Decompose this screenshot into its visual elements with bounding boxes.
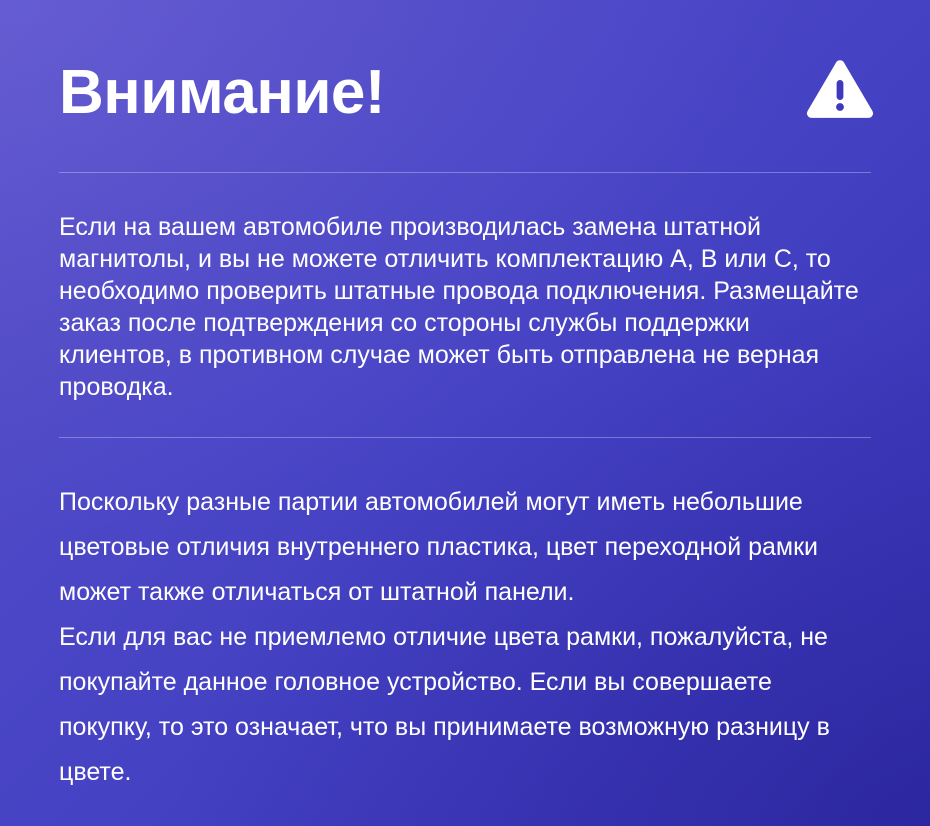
- section-color-difference-warning: Поскольку разные партии автомобилей могу…: [59, 438, 871, 795]
- banner-header: Внимание!: [59, 0, 871, 172]
- banner-content: Внимание! Если на вашем автомобиле произ…: [0, 0, 930, 826]
- section-wiring-warning: Если на вашем автомобиле производилась з…: [59, 173, 871, 437]
- page-title: Внимание!: [59, 48, 385, 124]
- wiring-warning-paragraph: Если на вашем автомобиле производилась з…: [59, 211, 859, 403]
- attention-banner: Внимание! Если на вашем автомобиле произ…: [0, 0, 930, 826]
- warning-triangle-icon: [805, 51, 875, 121]
- color-difference-paragraph-2: Если для вас не приемлемо отличие цвета …: [59, 615, 871, 795]
- color-difference-paragraph-1: Поскольку разные партии автомобилей могу…: [59, 480, 871, 615]
